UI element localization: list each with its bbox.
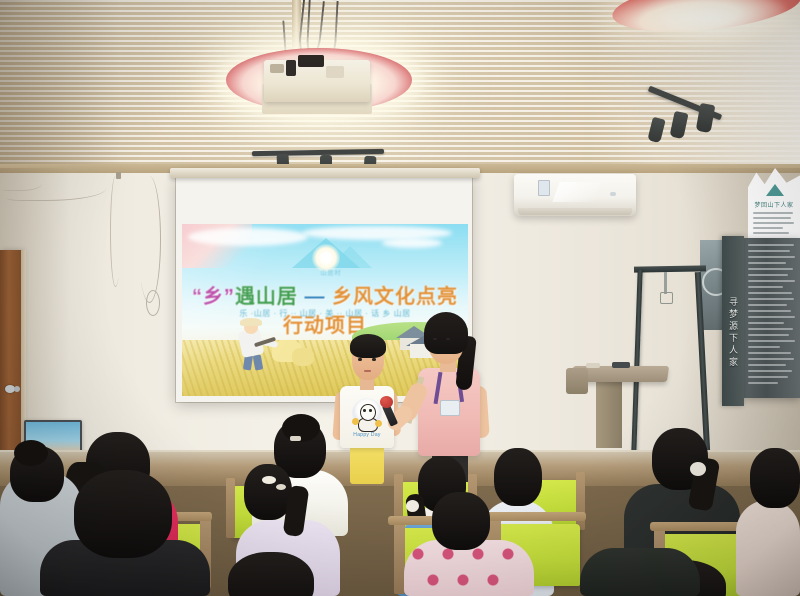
vertical-signboard-text: 寻梦源下人家 [728,296,740,368]
slide-cloud [382,238,442,248]
hair-scrunchie-icon [406,500,419,512]
audience-person-head [74,470,172,558]
woman-eye [446,338,450,340]
door-lock-icon [14,386,20,392]
tshirt-cartoon-face-icon [360,404,376,421]
hanging-wire-loop [146,290,160,316]
ac-air-vent [518,208,632,215]
slide-cloud [188,228,308,246]
chair-frame [226,478,235,538]
projector-lens-icon [270,64,284,73]
hanging-wire [138,176,161,303]
hanging-wire [2,176,42,191]
sign-body-text [753,212,795,237]
podium-side [566,368,588,394]
sign-title: 梦回山下人家 [748,200,800,209]
tshirt-cartoon-eye [363,409,366,412]
audience-person-torso [580,548,700,596]
slide-title-part1: “乡” [192,286,235,308]
hair-clip-icon [290,436,301,441]
slide-subtitle: 乐 ·山居 · 行 ·· 山居 · 美 ·· 山居 · 话 乡 山居 [182,308,468,319]
audience-person-head [750,448,800,508]
tshirt-cartoon-hand [375,420,382,427]
hair-clip-icon [276,484,286,490]
screenshot-scene: 山居村 “乡”遇山居 — 乡风文化点亮行动项目 乐 ·山居 · 行 ·· 山居 … [0,0,800,596]
audience-hair-bun [14,440,48,466]
woman-eye [433,338,437,340]
ac-reflection [552,182,601,202]
podium-paper [586,363,600,368]
audience-person-head [228,552,314,596]
hair-clip-icon [262,476,276,484]
podium-object [612,362,630,368]
boy-eye [358,358,362,361]
slide-farmer-hat-icon [240,318,262,326]
hanging-wire [110,176,121,287]
easel-hook-icon [664,272,667,294]
audience-hair-bun [282,414,320,442]
audience-person-head [432,492,490,550]
slide-title-part2: 遇山居 [235,286,298,308]
id-badge [440,400,460,416]
ac-display-panel [538,180,550,196]
tshirt-print-text: Happy Day [350,432,384,438]
boy-eye [372,358,376,361]
boy-hair [350,334,386,358]
tshirt-cartoon-hand [352,418,359,425]
audience-person-torso [736,500,800,596]
projector-vent-icon [326,66,344,78]
slide-logo-caption: 山居村 [286,268,376,277]
boy-mouth [364,370,371,372]
woman-hair [424,312,468,354]
slide-title-dash: — [298,286,332,308]
tshirt-cartoon-eye [369,409,372,412]
ac-led-icon [610,192,616,196]
ceiling-shadow-left [0,0,120,172]
projector-connector [286,60,296,76]
easel-hook-bracket [660,292,673,304]
board-text-lines [748,244,796,388]
projector-connector [298,55,324,67]
microphone-icon[interactable] [380,396,393,408]
chair-armrest [486,512,586,521]
hair-scrunchie-icon [690,462,706,476]
projection-screen-roller [170,168,480,178]
podium-column [596,382,622,448]
slide-harvest-sack [292,348,314,366]
chair-frame [576,472,585,530]
audience-person-head [494,448,542,506]
